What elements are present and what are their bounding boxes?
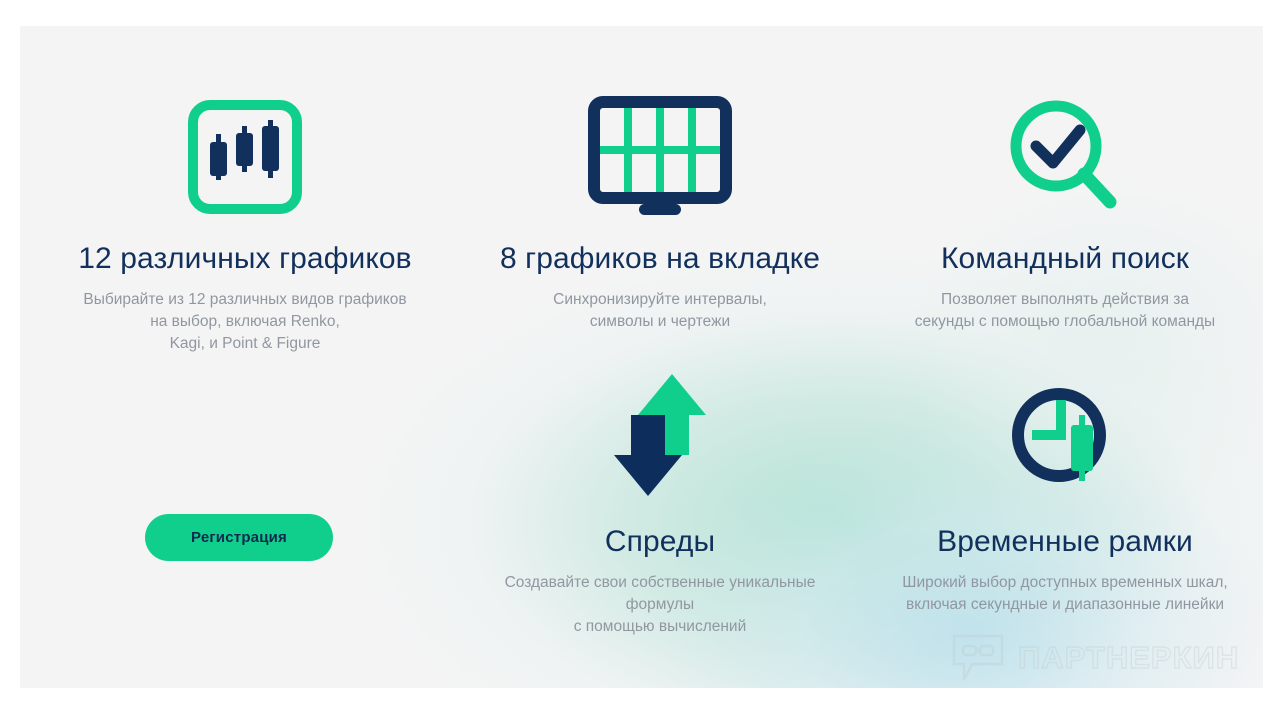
clock-candlestick-icon	[865, 369, 1263, 499]
features-grid: 12 различных графиков Выбирайте из 12 ра…	[20, 26, 1263, 688]
candlestick-chart-icon	[50, 86, 440, 216]
monitor-grid-icon	[460, 86, 860, 216]
feature-title: 12 различных графиков	[50, 242, 440, 276]
feature-card-search: Командный поиск Позволяет выполнять дейс…	[865, 86, 1263, 333]
feature-title: Спреды	[460, 525, 860, 559]
feature-title: 8 графиков на вкладке	[460, 242, 860, 276]
feature-card-timeframes: Временные рамки Широкий выбор доступных …	[865, 369, 1263, 616]
feature-card-spreads: Спреды Создавайте свои собственные уника…	[460, 369, 860, 638]
feature-description: Выбирайте из 12 различных видов графиков…	[50, 289, 440, 355]
feature-card-tabs: 8 графиков на вкладке Синхронизируйте ин…	[460, 86, 860, 333]
up-down-arrows-icon	[460, 369, 860, 499]
magnifier-check-icon	[865, 86, 1263, 216]
feature-title: Командный поиск	[865, 242, 1263, 276]
registration-button[interactable]: Регистрация	[145, 514, 333, 561]
features-panel: 12 различных графиков Выбирайте из 12 ра…	[20, 26, 1263, 688]
feature-description: Создавайте свои собственные уникальные ф…	[460, 572, 860, 638]
feature-title: Временные рамки	[865, 525, 1263, 559]
feature-card-charts: 12 различных графиков Выбирайте из 12 ра…	[50, 86, 440, 355]
feature-description: Позволяет выполнять действия за секунды …	[865, 289, 1263, 333]
feature-description: Широкий выбор доступных временных шкал, …	[865, 572, 1263, 616]
feature-description: Синхронизируйте интервалы, символы и чер…	[460, 289, 860, 333]
